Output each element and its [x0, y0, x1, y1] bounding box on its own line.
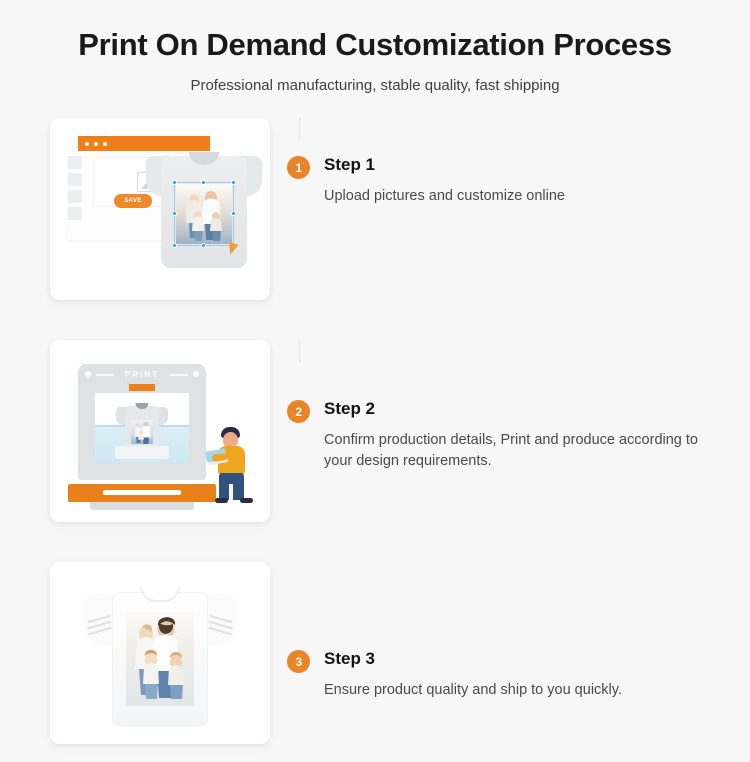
machine-foot	[90, 501, 194, 510]
steps-list: SAVE	[0, 118, 750, 762]
machine-tick-icon	[170, 374, 188, 376]
step-1-description: Upload pictures and customize online	[324, 186, 724, 207]
machine-tray	[115, 446, 169, 459]
person-legs	[219, 473, 244, 500]
step-3-description: Ensure product quality and ship to you q…	[324, 680, 724, 701]
person-shoe	[215, 498, 228, 503]
step-1-illustration-card: SAVE	[50, 118, 270, 300]
tshirt-preview	[146, 144, 262, 284]
step-2-badge: 2	[287, 400, 310, 423]
step-1-text: Step 1 Upload pictures and customize onl…	[318, 156, 750, 207]
timeline-line	[299, 340, 301, 362]
resize-handle-icon[interactable]	[172, 180, 177, 185]
selection-frame[interactable]	[174, 182, 234, 246]
sidebar-block	[68, 156, 82, 169]
machine-tick-icon	[96, 374, 114, 376]
step-1-title: Step 1	[324, 156, 750, 175]
step-2-description: Confirm production details, Print and pr…	[324, 430, 724, 472]
step-3-illustration-card	[50, 562, 270, 744]
step-row: PRINT	[50, 340, 750, 540]
step-3-badge: 3	[287, 650, 310, 673]
machine-knob-icon	[193, 371, 199, 377]
person-shoe	[240, 498, 253, 503]
page-title: Print On Demand Customization Process	[0, 26, 750, 63]
editor-sidebar	[68, 156, 82, 220]
machine-output-slot	[103, 490, 181, 495]
sidebar-block	[68, 190, 82, 203]
step-row: 3 Step 3 Ensure product quality and ship…	[50, 562, 750, 762]
step-3-text: Step 3 Ensure product quality and ship t…	[318, 650, 750, 701]
step-3-title: Step 3	[324, 650, 750, 669]
resize-handle-icon[interactable]	[201, 180, 206, 185]
timeline-line	[299, 118, 301, 140]
sidebar-block	[68, 173, 82, 186]
finished-tshirt	[84, 578, 236, 728]
machine-label: PRINT	[125, 370, 159, 379]
operator-person	[210, 424, 256, 502]
machine-header: PRINT	[78, 364, 206, 384]
machine-accent-bar	[129, 384, 155, 391]
page-subtitle: Professional manufacturing, stable quali…	[0, 77, 750, 94]
machine-knob-icon	[85, 371, 91, 377]
family-photo-graphic	[128, 614, 192, 704]
step-2-title: Step 2	[324, 400, 750, 419]
resize-handle-icon[interactable]	[172, 211, 177, 216]
tshirt-print-area	[131, 420, 153, 444]
step-1-badge: 1	[287, 156, 310, 179]
family-photo-graphic	[131, 420, 153, 444]
step-row: SAVE	[50, 118, 750, 318]
printed-photo	[126, 612, 194, 706]
window-dot-icon	[94, 142, 98, 146]
step-2-illustration-card: PRINT	[50, 340, 270, 522]
window-dot-icon	[103, 142, 107, 146]
step-2-text: Step 2 Confirm production details, Print…	[318, 400, 750, 472]
sidebar-block	[68, 207, 82, 220]
page-header: Print On Demand Customization Process Pr…	[0, 0, 750, 94]
window-dot-icon	[85, 142, 89, 146]
machine-window	[95, 393, 189, 463]
machine-base	[68, 484, 216, 502]
printing-machine: PRINT	[78, 364, 206, 480]
